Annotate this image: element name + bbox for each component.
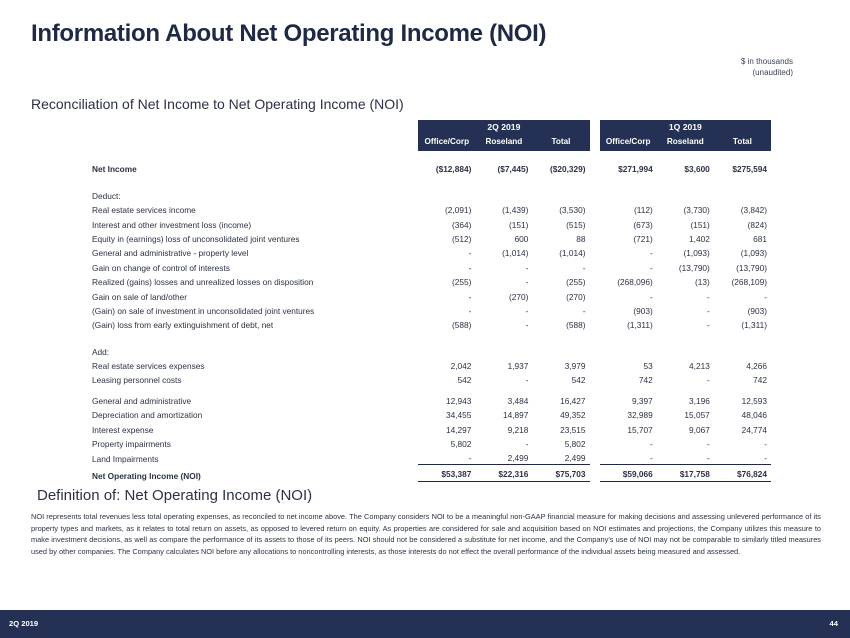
row-value: 2,042 (418, 358, 475, 372)
row-value: 9,218 (475, 421, 532, 435)
row-deduct-item: Real estate services income(2,091)(1,439… (31, 202, 771, 216)
column-gap (590, 358, 600, 372)
column-gap (590, 407, 600, 421)
row-value: (588) (418, 317, 475, 331)
row-value: 4,213 (657, 358, 714, 372)
row-value: (270) (532, 288, 589, 302)
row-deduct-item: Equity in (earnings) loss of unconsolida… (31, 231, 771, 245)
row-value: $271,994 (600, 161, 657, 175)
column-gap (590, 187, 600, 201)
row-value: - (418, 303, 475, 317)
row-label: Depreciation and amortization (31, 407, 418, 421)
column-gap (590, 392, 600, 406)
group-header-gap (590, 120, 600, 134)
row-value: - (714, 436, 771, 450)
column-header-2q-office: Office/Corp (418, 134, 475, 151)
footer-bar: 2Q 2019 44 (0, 610, 850, 638)
row-value: (824) (714, 216, 771, 230)
row-add-item: Depreciation and amortization34,45514,89… (31, 407, 771, 421)
column-header-1q-total: Total (714, 134, 771, 151)
row-value: 15,057 (657, 407, 714, 421)
row-value: - (657, 317, 714, 331)
row-deduct-item: Gain on sale of land/other-(270)(270)--- (31, 288, 771, 302)
row-value: (903) (714, 303, 771, 317)
row-value (532, 187, 589, 201)
row-label: Net Income (31, 161, 418, 175)
column-gap (590, 436, 600, 450)
group-header-row: 2Q 2019 1Q 2019 (31, 120, 771, 134)
group-header-spacer (31, 120, 418, 134)
row-value (600, 187, 657, 201)
reconciliation-table-wrap: 2Q 2019 1Q 2019 Office/Corp Roseland Tot… (31, 120, 771, 482)
units-note-line1: $ in thousands (653, 56, 793, 67)
row-value (475, 343, 532, 357)
row-net-income: Net Income($12,884)($7,445)($20,329)$271… (31, 161, 771, 175)
row-value: - (657, 288, 714, 302)
row-value: (268,096) (600, 274, 657, 288)
row-value: - (475, 372, 532, 386)
row-value: $3,600 (657, 161, 714, 175)
row-value (714, 187, 771, 201)
row-value: (673) (600, 216, 657, 230)
row-value: (1,311) (714, 317, 771, 331)
row-value (657, 187, 714, 201)
row-value: 12,943 (418, 392, 475, 406)
row-value: 12,593 (714, 392, 771, 406)
row-value: - (418, 259, 475, 273)
row-label: Real estate services expenses (31, 358, 418, 372)
row-label: Land Impairments (31, 450, 418, 465)
row-value: (1,014) (475, 245, 532, 259)
row-net-operating-income-total: Net Operating Income (NOI)$53,387$22,316… (31, 465, 771, 482)
column-gap (590, 274, 600, 288)
row-value: 24,774 (714, 421, 771, 435)
row-value: (588) (532, 317, 589, 331)
row-value: - (600, 288, 657, 302)
row-label: (Gain) loss from early extinguishment of… (31, 317, 418, 331)
row-value: - (714, 450, 771, 465)
definition-body: NOI represents total revenues less total… (31, 511, 821, 557)
column-header-row: Office/Corp Roseland Total Office/Corp R… (31, 134, 771, 151)
row-value: (2,091) (418, 202, 475, 216)
row-value: 3,979 (532, 358, 589, 372)
row-label: General and administrative (31, 392, 418, 406)
column-gap (590, 216, 600, 230)
row-value: (255) (532, 274, 589, 288)
row-value: 9,067 (657, 421, 714, 435)
row-value: (270) (475, 288, 532, 302)
row-value: 2,499 (532, 450, 589, 465)
row-value: - (532, 259, 589, 273)
row-value (600, 343, 657, 357)
row-value: (903) (600, 303, 657, 317)
row-label: General and administrative - property le… (31, 245, 418, 259)
column-gap (590, 317, 600, 331)
row-value: - (475, 259, 532, 273)
row-value: - (418, 245, 475, 259)
row-deduct-item: (Gain) on sale of investment in unconsol… (31, 303, 771, 317)
column-header-1q-roseland: Roseland (657, 134, 714, 151)
row-value: 9,397 (600, 392, 657, 406)
row-value: ($20,329) (532, 161, 589, 175)
row-value: 48,046 (714, 407, 771, 421)
row-value: - (600, 450, 657, 465)
section-spacer-add (31, 331, 771, 343)
row-value: (3,530) (532, 202, 589, 216)
row-value: $75,703 (532, 465, 589, 482)
row-value: - (418, 288, 475, 302)
row-add-item: Land Impairments-2,4992,499--- (31, 450, 771, 465)
row-value: (13,790) (657, 259, 714, 273)
row-value: (515) (532, 216, 589, 230)
row-value: - (714, 288, 771, 302)
row-value: 53 (600, 358, 657, 372)
slide: Information About Net Operating Income (… (0, 0, 850, 638)
row-value: (364) (418, 216, 475, 230)
row-value: (112) (600, 202, 657, 216)
row-value: (1,093) (657, 245, 714, 259)
column-header-2q-roseland: Roseland (475, 134, 532, 151)
row-value: 88 (532, 231, 589, 245)
column-gap (590, 450, 600, 465)
table-head: 2Q 2019 1Q 2019 Office/Corp Roseland Tot… (31, 120, 771, 151)
row-value (532, 343, 589, 357)
row-deduct-item: (Gain) loss from early extinguishment of… (31, 317, 771, 331)
row-value: (268,109) (714, 274, 771, 288)
row-value: $22,316 (475, 465, 532, 482)
group-header-2q: 2Q 2019 (418, 120, 589, 134)
row-value: (13) (657, 274, 714, 288)
row-value: - (657, 436, 714, 450)
table-body: Net Income($12,884)($7,445)($20,329)$271… (31, 151, 771, 482)
row-value: 3,196 (657, 392, 714, 406)
row-label: Real estate services income (31, 202, 418, 216)
row-label: Interest expense (31, 421, 418, 435)
row-add-label: Add: (31, 343, 771, 357)
row-value (418, 343, 475, 357)
column-gap (590, 202, 600, 216)
row-value: 32,989 (600, 407, 657, 421)
column-header-spacer (31, 134, 418, 151)
row-value: - (475, 436, 532, 450)
row-value: - (475, 274, 532, 288)
column-header-1q-office: Office/Corp (600, 134, 657, 151)
row-label: Add: (31, 343, 418, 357)
column-gap (590, 259, 600, 273)
row-value (714, 343, 771, 357)
row-value: (1,311) (600, 317, 657, 331)
definition-title: Definition of: Net Operating Income (NOI… (37, 487, 312, 504)
section-subtitle: Reconciliation of Net Income to Net Oper… (31, 96, 404, 112)
row-deduct-item: Gain on change of control of interests--… (31, 259, 771, 273)
row-value: 49,352 (532, 407, 589, 421)
column-gap (590, 245, 600, 259)
row-value: 742 (714, 372, 771, 386)
column-gap (590, 465, 600, 482)
column-header-gap (590, 134, 600, 151)
row-value: - (532, 303, 589, 317)
row-value: 5,802 (418, 436, 475, 450)
column-gap (590, 343, 600, 357)
row-value: $76,824 (714, 465, 771, 482)
row-value: 4,266 (714, 358, 771, 372)
row-add-item: Real estate services expenses2,0421,9373… (31, 358, 771, 372)
row-add-item: Interest expense14,2979,21823,51515,7079… (31, 421, 771, 435)
row-value: $53,387 (418, 465, 475, 482)
row-value: (151) (657, 216, 714, 230)
row-value: 1,937 (475, 358, 532, 372)
row-label: Equity in (earnings) loss of unconsolida… (31, 231, 418, 245)
row-deduct-item: Interest and other investment loss (inco… (31, 216, 771, 230)
row-value: (13,790) (714, 259, 771, 273)
row-value: 5,802 (532, 436, 589, 450)
row-value: $59,066 (600, 465, 657, 482)
row-value: 3,484 (475, 392, 532, 406)
row-value: 600 (475, 231, 532, 245)
row-value: 15,707 (600, 421, 657, 435)
row-value: (255) (418, 274, 475, 288)
row-value: - (600, 259, 657, 273)
units-note-line2: (unaudited) (653, 67, 793, 78)
column-gap (590, 161, 600, 175)
row-value: 14,897 (475, 407, 532, 421)
row-value: 14,297 (418, 421, 475, 435)
row-value: 16,427 (532, 392, 589, 406)
row-value: (1,439) (475, 202, 532, 216)
row-value: 23,515 (532, 421, 589, 435)
column-gap (590, 372, 600, 386)
row-deduct-label: Deduct: (31, 187, 771, 201)
row-add-item: General and administrative12,9433,48416,… (31, 392, 771, 406)
footer-label: 2Q 2019 (9, 619, 38, 628)
row-label: Interest and other investment loss (inco… (31, 216, 418, 230)
row-value (418, 187, 475, 201)
footer-page-number: 44 (830, 619, 838, 628)
row-value: ($12,884) (418, 161, 475, 175)
row-label: Property impairments (31, 436, 418, 450)
reconciliation-table: 2Q 2019 1Q 2019 Office/Corp Roseland Tot… (31, 120, 771, 482)
page-title: Information About Net Operating Income (… (31, 20, 546, 48)
row-value: 681 (714, 231, 771, 245)
row-value: - (657, 303, 714, 317)
row-value: - (657, 372, 714, 386)
row-add-item: Property impairments5,802-5,802--- (31, 436, 771, 450)
row-deduct-item: Realized (gains) losses and unrealized l… (31, 274, 771, 288)
row-label: Realized (gains) losses and unrealized l… (31, 274, 418, 288)
column-header-2q-total: Total (532, 134, 589, 151)
row-value: (3,730) (657, 202, 714, 216)
units-note: $ in thousands (unaudited) (653, 56, 793, 78)
row-label: Gain on change of control of interests (31, 259, 418, 273)
column-gap (590, 421, 600, 435)
row-value: (3,842) (714, 202, 771, 216)
row-label: Net Operating Income (NOI) (31, 465, 418, 482)
row-value (475, 187, 532, 201)
row-value: 542 (418, 372, 475, 386)
row-value: (512) (418, 231, 475, 245)
row-value: 742 (600, 372, 657, 386)
row-value: - (418, 450, 475, 465)
row-value: (721) (600, 231, 657, 245)
row-value: (151) (475, 216, 532, 230)
row-value: - (600, 245, 657, 259)
section-spacer-deduct (31, 175, 771, 187)
row-label: Deduct: (31, 187, 418, 201)
row-value: ($7,445) (475, 161, 532, 175)
column-gap (590, 231, 600, 245)
row-value: - (475, 303, 532, 317)
row-value (657, 343, 714, 357)
group-header-1q: 1Q 2019 (600, 120, 771, 134)
row-value: 34,455 (418, 407, 475, 421)
column-gap (590, 303, 600, 317)
row-value: (1,093) (714, 245, 771, 259)
row-label: Leasing personnel costs (31, 372, 418, 386)
row-label: (Gain) on sale of investment in unconsol… (31, 303, 418, 317)
row-value: $17,758 (657, 465, 714, 482)
header-gap-row (31, 151, 771, 161)
row-add-item: Leasing personnel costs542-542742-742 (31, 372, 771, 386)
row-deduct-item: General and administrative - property le… (31, 245, 771, 259)
row-value: $275,594 (714, 161, 771, 175)
row-value: - (475, 317, 532, 331)
row-value: 542 (532, 372, 589, 386)
row-value: 1,402 (657, 231, 714, 245)
row-value: (1,014) (532, 245, 589, 259)
column-gap (590, 288, 600, 302)
row-label: Gain on sale of land/other (31, 288, 418, 302)
row-value: - (600, 436, 657, 450)
row-value: 2,499 (475, 450, 532, 465)
row-value: - (657, 450, 714, 465)
